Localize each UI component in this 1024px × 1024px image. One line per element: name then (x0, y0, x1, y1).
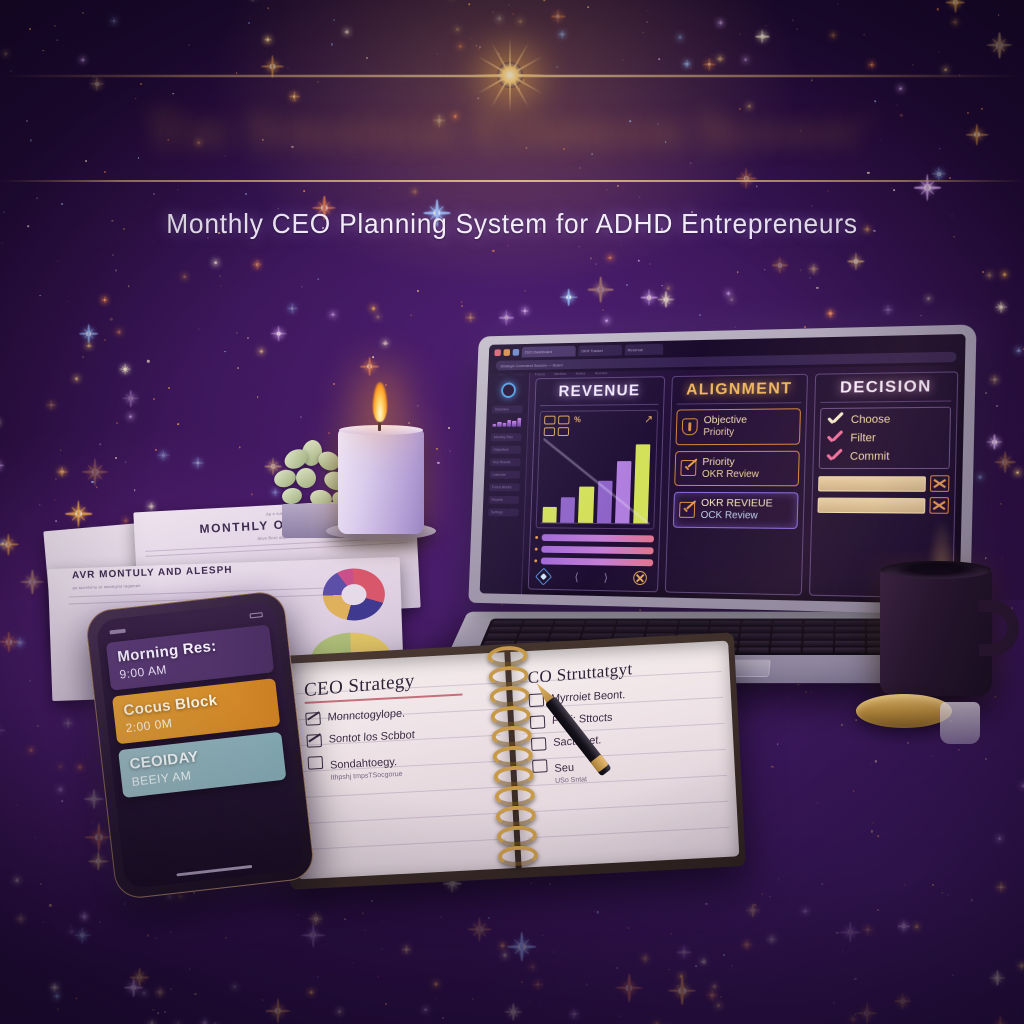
star-dust (417, 290, 419, 292)
notebook-item-subtext: USo Sntat (555, 776, 587, 785)
sparkle-star (90, 77, 104, 91)
bar-1 (542, 507, 557, 522)
star-dust (602, 309, 604, 311)
star-dust (448, 427, 450, 429)
tea-strainer-handle (940, 702, 980, 744)
star-dust (54, 499, 55, 500)
revenue-progress-list (534, 534, 654, 566)
sparkle-star (727, 292, 731, 296)
decision-row-choose[interactable]: Choose (827, 413, 943, 426)
spiral-ring (487, 645, 528, 667)
decision-label: Commit (850, 450, 890, 462)
star-dust (811, 80, 812, 81)
sparkle-star (465, 312, 476, 323)
sparkle-star (995, 301, 1007, 313)
star-dust (864, 34, 866, 36)
star-dust (492, 250, 494, 252)
star-dust (303, 190, 305, 192)
revenue-kpi-row: % ↗ (544, 415, 654, 436)
star-dust (936, 8, 938, 10)
spiral-ring (498, 845, 539, 867)
star-dust (188, 44, 189, 45)
bookmark-2[interactable]: Focus (535, 371, 545, 376)
sparkle-star (658, 291, 675, 308)
spiral-ring (496, 825, 537, 847)
sparkle-star (756, 30, 770, 44)
check-icon (827, 414, 844, 426)
star-dust (4, 211, 6, 213)
notebook-item-text: Sontot los Scbbot (328, 729, 415, 746)
sparkle-star (927, 297, 930, 300)
star-dust (333, 19, 335, 21)
sparkle-star (883, 305, 893, 315)
star-dust (153, 398, 155, 400)
panel-alignment: ALIGNMENT Objective Priority (665, 374, 808, 596)
star-dust (739, 33, 740, 34)
sparkle-star (79, 324, 98, 343)
star-dust (461, 305, 463, 307)
lit-candle (338, 428, 424, 534)
star-dust (1, 243, 2, 244)
sparkle-star (944, 68, 947, 71)
notebook-right-heading: CO Struttatgyt (528, 652, 713, 688)
alignment-list: Objective Priority Priority OKR Review (673, 408, 801, 529)
checkbox-icon[interactable] (532, 759, 548, 773)
star-dust (642, 32, 644, 34)
star-dust (920, 315, 922, 317)
sparkle-star (683, 60, 691, 68)
bar-2 (560, 497, 575, 523)
sparkle-star (951, 18, 959, 26)
sparkle-star (1, 542, 4, 545)
browser-tab-0[interactable]: CEO Dashboard (522, 346, 576, 358)
panel-title-decision: DECISION (820, 378, 951, 403)
star-dust (659, 58, 661, 60)
kpi-tiles (544, 416, 570, 437)
star-dust (579, 168, 580, 169)
gold-divider (0, 180, 1024, 182)
star-dust (116, 422, 118, 424)
star-dust (436, 448, 438, 450)
check-icon (827, 432, 844, 444)
star-dust (37, 197, 39, 199)
checkbox-icon[interactable] (530, 715, 546, 729)
star-dust (57, 260, 58, 261)
phone-screen: Morning Res: 9:00 AM Cocus Block 2:00 0M… (95, 601, 304, 890)
sidebar-item-reports[interactable]: Reports (489, 496, 520, 504)
smartphone: Morning Res: 9:00 AM Cocus Block 2:00 0M… (84, 590, 316, 901)
star-dust (113, 255, 114, 256)
star-dust (61, 203, 63, 205)
star-dust (220, 286, 221, 287)
checkbox-pen-icon (680, 460, 696, 476)
star-dust (135, 98, 137, 100)
sparkle-star (717, 55, 723, 61)
sparkle-star (192, 457, 204, 469)
star-dust (96, 487, 97, 488)
sparkle-star (75, 377, 78, 380)
star-dust (287, 67, 288, 68)
star-dust (617, 185, 619, 187)
title-main: Strategic Command Session (247, 101, 858, 157)
sparkle-star (560, 289, 577, 306)
checkbox-icon[interactable] (306, 734, 322, 748)
check-icon (826, 451, 843, 463)
sparkle-star (259, 350, 263, 354)
window-dot-orange[interactable] (503, 349, 510, 356)
checkbox-icon[interactable] (305, 712, 321, 726)
sparkle-star (847, 253, 865, 271)
sparkle-star (101, 297, 107, 303)
battery-icon (249, 612, 262, 618)
sparkle-star (129, 415, 132, 418)
notebook-right-page: CO Struttatgyt Myrroiet Beont. Foci: Stt… (510, 641, 739, 868)
star-dust (60, 449, 62, 451)
sparkle-star (718, 20, 723, 25)
spiral-ring (495, 805, 536, 827)
checkbox-pen-icon (679, 502, 695, 518)
star-dust (810, 277, 811, 278)
decision-input-field[interactable] (817, 497, 925, 513)
star-dust (1002, 557, 1003, 558)
sparkle-star (252, 260, 261, 269)
star-dust (128, 286, 130, 288)
star-dust (596, 263, 597, 264)
bullet-dot-icon (535, 536, 538, 539)
star-dust (104, 170, 106, 172)
sidebar-item-settings[interactable]: Settings (488, 508, 519, 516)
sparkle-star (246, 0, 260, 1)
panel-title-alignment: ALIGNMENT (677, 380, 802, 405)
star-dust (239, 447, 240, 448)
sparkle-star (808, 264, 818, 274)
sidebar-item-monthly-plan[interactable]: Monthly Plan (491, 433, 522, 441)
star-dust (247, 337, 249, 339)
phone-event-card[interactable]: CEOIDAY BEEIY AM (118, 732, 286, 798)
sparkle-star (46, 400, 56, 410)
star-dust (661, 285, 663, 287)
app-logo-icon (500, 382, 515, 398)
sparkle-star (522, 308, 529, 315)
star-dust (816, 286, 818, 288)
decision-inputs (817, 475, 949, 514)
spiral-ring (491, 725, 532, 747)
star-dust (81, 12, 83, 14)
sparkle-star (605, 319, 608, 322)
alignment-row-line1: Objective (703, 414, 747, 427)
star-dust (626, 284, 628, 286)
star-dust (318, 81, 319, 82)
revenue-bar-chart (540, 437, 652, 524)
star-dust (110, 318, 112, 320)
candle-flame-icon (372, 382, 387, 422)
star-dust (29, 28, 31, 30)
star-dust (461, 301, 463, 303)
star-dust (712, 55, 713, 56)
star-dust (115, 457, 117, 459)
star-dust (248, 22, 250, 24)
star-dust (800, 270, 801, 271)
sparkle-star (899, 87, 902, 90)
sparkle-star (978, 475, 982, 479)
window-dot-blue[interactable] (513, 349, 520, 356)
star-dust (437, 462, 439, 464)
checkbox-icon[interactable] (308, 756, 324, 770)
decision-row-commit[interactable]: Commit (826, 450, 943, 463)
star-dust (690, 162, 691, 163)
sparkle-star (119, 363, 131, 375)
star-dust (812, 205, 813, 206)
decision-input-field[interactable] (818, 476, 926, 492)
star-dust (507, 245, 509, 247)
star-dust (764, 269, 765, 270)
spiral-ring (492, 745, 533, 767)
sparkle-star (1003, 273, 1006, 276)
star-dust (147, 360, 149, 362)
star-dust (236, 72, 238, 74)
revenue-chart-box: % ↗ (536, 410, 659, 530)
sparkle-star (111, 18, 117, 24)
alignment-row-line2: OKR Review (702, 469, 759, 482)
bookmark-5[interactable]: Archive (595, 370, 608, 375)
decision-input-row (818, 475, 949, 492)
alignment-row-okr-review[interactable]: OKR REVIEUE OCK Review (673, 492, 799, 529)
star-dust (104, 339, 106, 341)
star-dust (27, 225, 29, 227)
coffee-mug (880, 568, 992, 696)
star-dust (623, 59, 624, 60)
star-dust (268, 7, 270, 9)
sidebar-item-focus-blocks[interactable]: Focus Blocks (489, 483, 520, 491)
star-dust (578, 246, 580, 248)
sparkle-star (382, 340, 388, 346)
browser-chrome: CEO Dashboard OKR Tracker Revenue Strate… (488, 334, 965, 373)
sparkle-star (736, 168, 757, 189)
star-dust (125, 461, 127, 463)
sparkle-star (1016, 348, 1021, 353)
star-dust (939, 51, 940, 52)
star-dust (590, 258, 591, 259)
sparkle-star (499, 310, 514, 325)
browser-url-text: Strategic Command Session — Board (500, 362, 562, 368)
sparkle-star (744, 58, 747, 61)
sidebar-item-calendar[interactable]: Calendar (490, 471, 521, 479)
star-dust (417, 405, 418, 406)
star-dust (11, 70, 12, 71)
star-dust (587, 6, 589, 8)
spiral-ring (493, 765, 534, 787)
window-dot-red[interactable] (494, 349, 501, 356)
sparkle-star (123, 390, 140, 407)
star-dust (328, 432, 330, 434)
alignment-row-line1: Priority (702, 456, 759, 469)
star-dust (796, 29, 797, 30)
spiral-ring (488, 665, 529, 687)
bookmark-3[interactable]: Metrics (554, 371, 566, 376)
star-dust (331, 43, 333, 45)
notebook-checklist-item[interactable]: Sondahtoegy. Ithpshj tmpsTSocgorue (308, 747, 495, 783)
star-dust (154, 242, 155, 243)
star-dust (138, 157, 140, 159)
star-dust (867, 172, 869, 174)
sparkle-star (0, 458, 4, 473)
spiral-ring (490, 705, 531, 727)
sparkle-star (772, 257, 788, 273)
alignment-row-objective[interactable]: Objective Priority (676, 408, 801, 445)
sparkle-star (1015, 470, 1018, 473)
sparkle-star (987, 32, 1013, 58)
star-dust (607, 190, 608, 191)
sidebar-sparkline (493, 418, 522, 427)
star-dust (524, 290, 525, 291)
bar-5 (615, 461, 632, 523)
decision-row-filter[interactable]: Filter (827, 432, 944, 445)
notebook-item-subtext: Ithpshj tmpsTSocgorue (330, 770, 402, 781)
star-dust (237, 367, 239, 369)
sparkle-star (826, 310, 833, 317)
alignment-row-priority[interactable]: Priority OKR Review (674, 450, 800, 486)
trademark-symbol: ™ (858, 112, 876, 132)
star-dust (140, 83, 142, 85)
notebook: CEO Strategy Monnctogylope. Sontot los S… (287, 641, 740, 880)
star-dust (198, 328, 199, 329)
sparkle-star (80, 58, 84, 62)
progress-bar (541, 546, 653, 555)
sidebar-item-objectives[interactable]: Objectives (491, 446, 522, 454)
sparkle-star (345, 29, 349, 33)
star-dust (115, 270, 116, 271)
sparkle-star (666, 286, 670, 290)
sparkle-star (360, 357, 379, 376)
star-dust (409, 422, 411, 424)
panel-revenue: REVENUE % ↗ (528, 376, 665, 592)
bar-3 (578, 487, 594, 523)
star-dust (891, 188, 892, 189)
star-dust (620, 244, 621, 245)
star-dust (91, 481, 93, 483)
sparkle-star (994, 451, 1016, 473)
progress-row (535, 534, 654, 542)
phone-home-indicator[interactable] (176, 865, 252, 877)
star-dust (765, 25, 766, 26)
star-dust (236, 332, 237, 333)
star-dust (998, 14, 1000, 16)
sparkle-star (286, 303, 297, 314)
star-dust (417, 303, 418, 304)
tea-strainer (856, 694, 952, 728)
star-dust (257, 396, 259, 398)
browser-tab-1[interactable]: OKR Tracker (578, 345, 622, 357)
star-dust (875, 101, 877, 103)
sparkle-star (158, 449, 170, 461)
sparkle-star (703, 58, 716, 71)
checkbox-icon[interactable] (531, 737, 547, 751)
sparkle-star (57, 467, 67, 477)
spiral-ring (489, 685, 530, 707)
bookmark-4[interactable]: Notes (576, 371, 586, 376)
decision-label: Choose (851, 413, 891, 426)
star-dust (39, 295, 41, 297)
sparkle-star (270, 325, 286, 341)
star-dust (691, 67, 692, 68)
star-dust (381, 187, 382, 188)
poster-canvas: The Strategic Command Session™ Monthly C… (0, 0, 1024, 1024)
sparkle-star (87, 343, 92, 348)
star-dust (173, 93, 175, 95)
star-dust (949, 177, 951, 179)
sparkle-star (608, 255, 613, 260)
notebook-checklist-item[interactable]: Sontot los Scbbot (306, 725, 492, 748)
sparkle-star (376, 315, 380, 319)
sparkle-star (641, 289, 658, 306)
star-dust (245, 193, 247, 195)
shuffle-icon[interactable] (929, 497, 949, 514)
revenue-footer-toolbar: ⟨ ⟩ (534, 564, 653, 585)
sparkle-star (987, 434, 1003, 450)
sparkle-star (116, 330, 120, 334)
star-dust (646, 21, 648, 23)
star-dust (985, 392, 987, 394)
star-dust (985, 558, 986, 559)
star-dust (56, 39, 57, 40)
star-dust (39, 504, 40, 505)
star-dust (982, 271, 984, 273)
signal-icon (109, 628, 125, 634)
star-dust (913, 64, 914, 65)
sparkle-star (986, 272, 992, 278)
page-subtitle: Monthly CEO Planning System for ADHD Ent… (31, 208, 994, 240)
star-dust (83, 356, 85, 358)
shuffle-icon[interactable] (930, 475, 950, 492)
star-dust (134, 489, 136, 491)
alignment-row-line1: OKR REVIEUE (701, 497, 773, 511)
star-dust (224, 351, 226, 353)
notebook-checklist-item[interactable]: Seu USo Sntat (532, 750, 719, 786)
chevron-left-icon[interactable]: ⟨ (574, 570, 579, 583)
sparkle-star (20, 570, 44, 594)
browser-tab-2[interactable]: Revenue (625, 344, 664, 356)
star-dust (177, 189, 178, 190)
notebook-item-text: Seu (554, 762, 574, 775)
alignment-row-line2: OCK Review (700, 510, 772, 523)
star-dust (318, 279, 320, 281)
sidebar-item-key-results[interactable]: Key Results (490, 458, 521, 466)
star-dust (893, 189, 895, 191)
sparkle-star (829, 31, 837, 39)
target-circle-icon[interactable] (633, 571, 647, 585)
spiral-ring (494, 785, 535, 807)
sparkle-star (214, 261, 217, 264)
sparkle-star (990, 375, 999, 384)
sidebar-item-overview[interactable]: Overview (492, 405, 523, 413)
sparkle-star (678, 35, 682, 39)
star-dust (300, 416, 302, 418)
objective-icon (682, 419, 698, 436)
chevron-right-icon[interactable]: ⟩ (604, 571, 609, 584)
diamond-icon[interactable] (535, 567, 552, 585)
star-dust (177, 423, 179, 425)
sparkle-star (331, 312, 336, 317)
decision-label: Filter (850, 432, 876, 444)
star-dust (220, 275, 221, 276)
notebook-checklist-item[interactable]: Monnctogylope. (305, 703, 491, 726)
sparkle-star (869, 61, 875, 67)
star-dust (837, 3, 838, 4)
bar-4 (596, 480, 612, 523)
star-dust (67, 301, 69, 303)
arrow-up-icon: ↗ (644, 415, 653, 426)
star-dust (301, 286, 302, 287)
